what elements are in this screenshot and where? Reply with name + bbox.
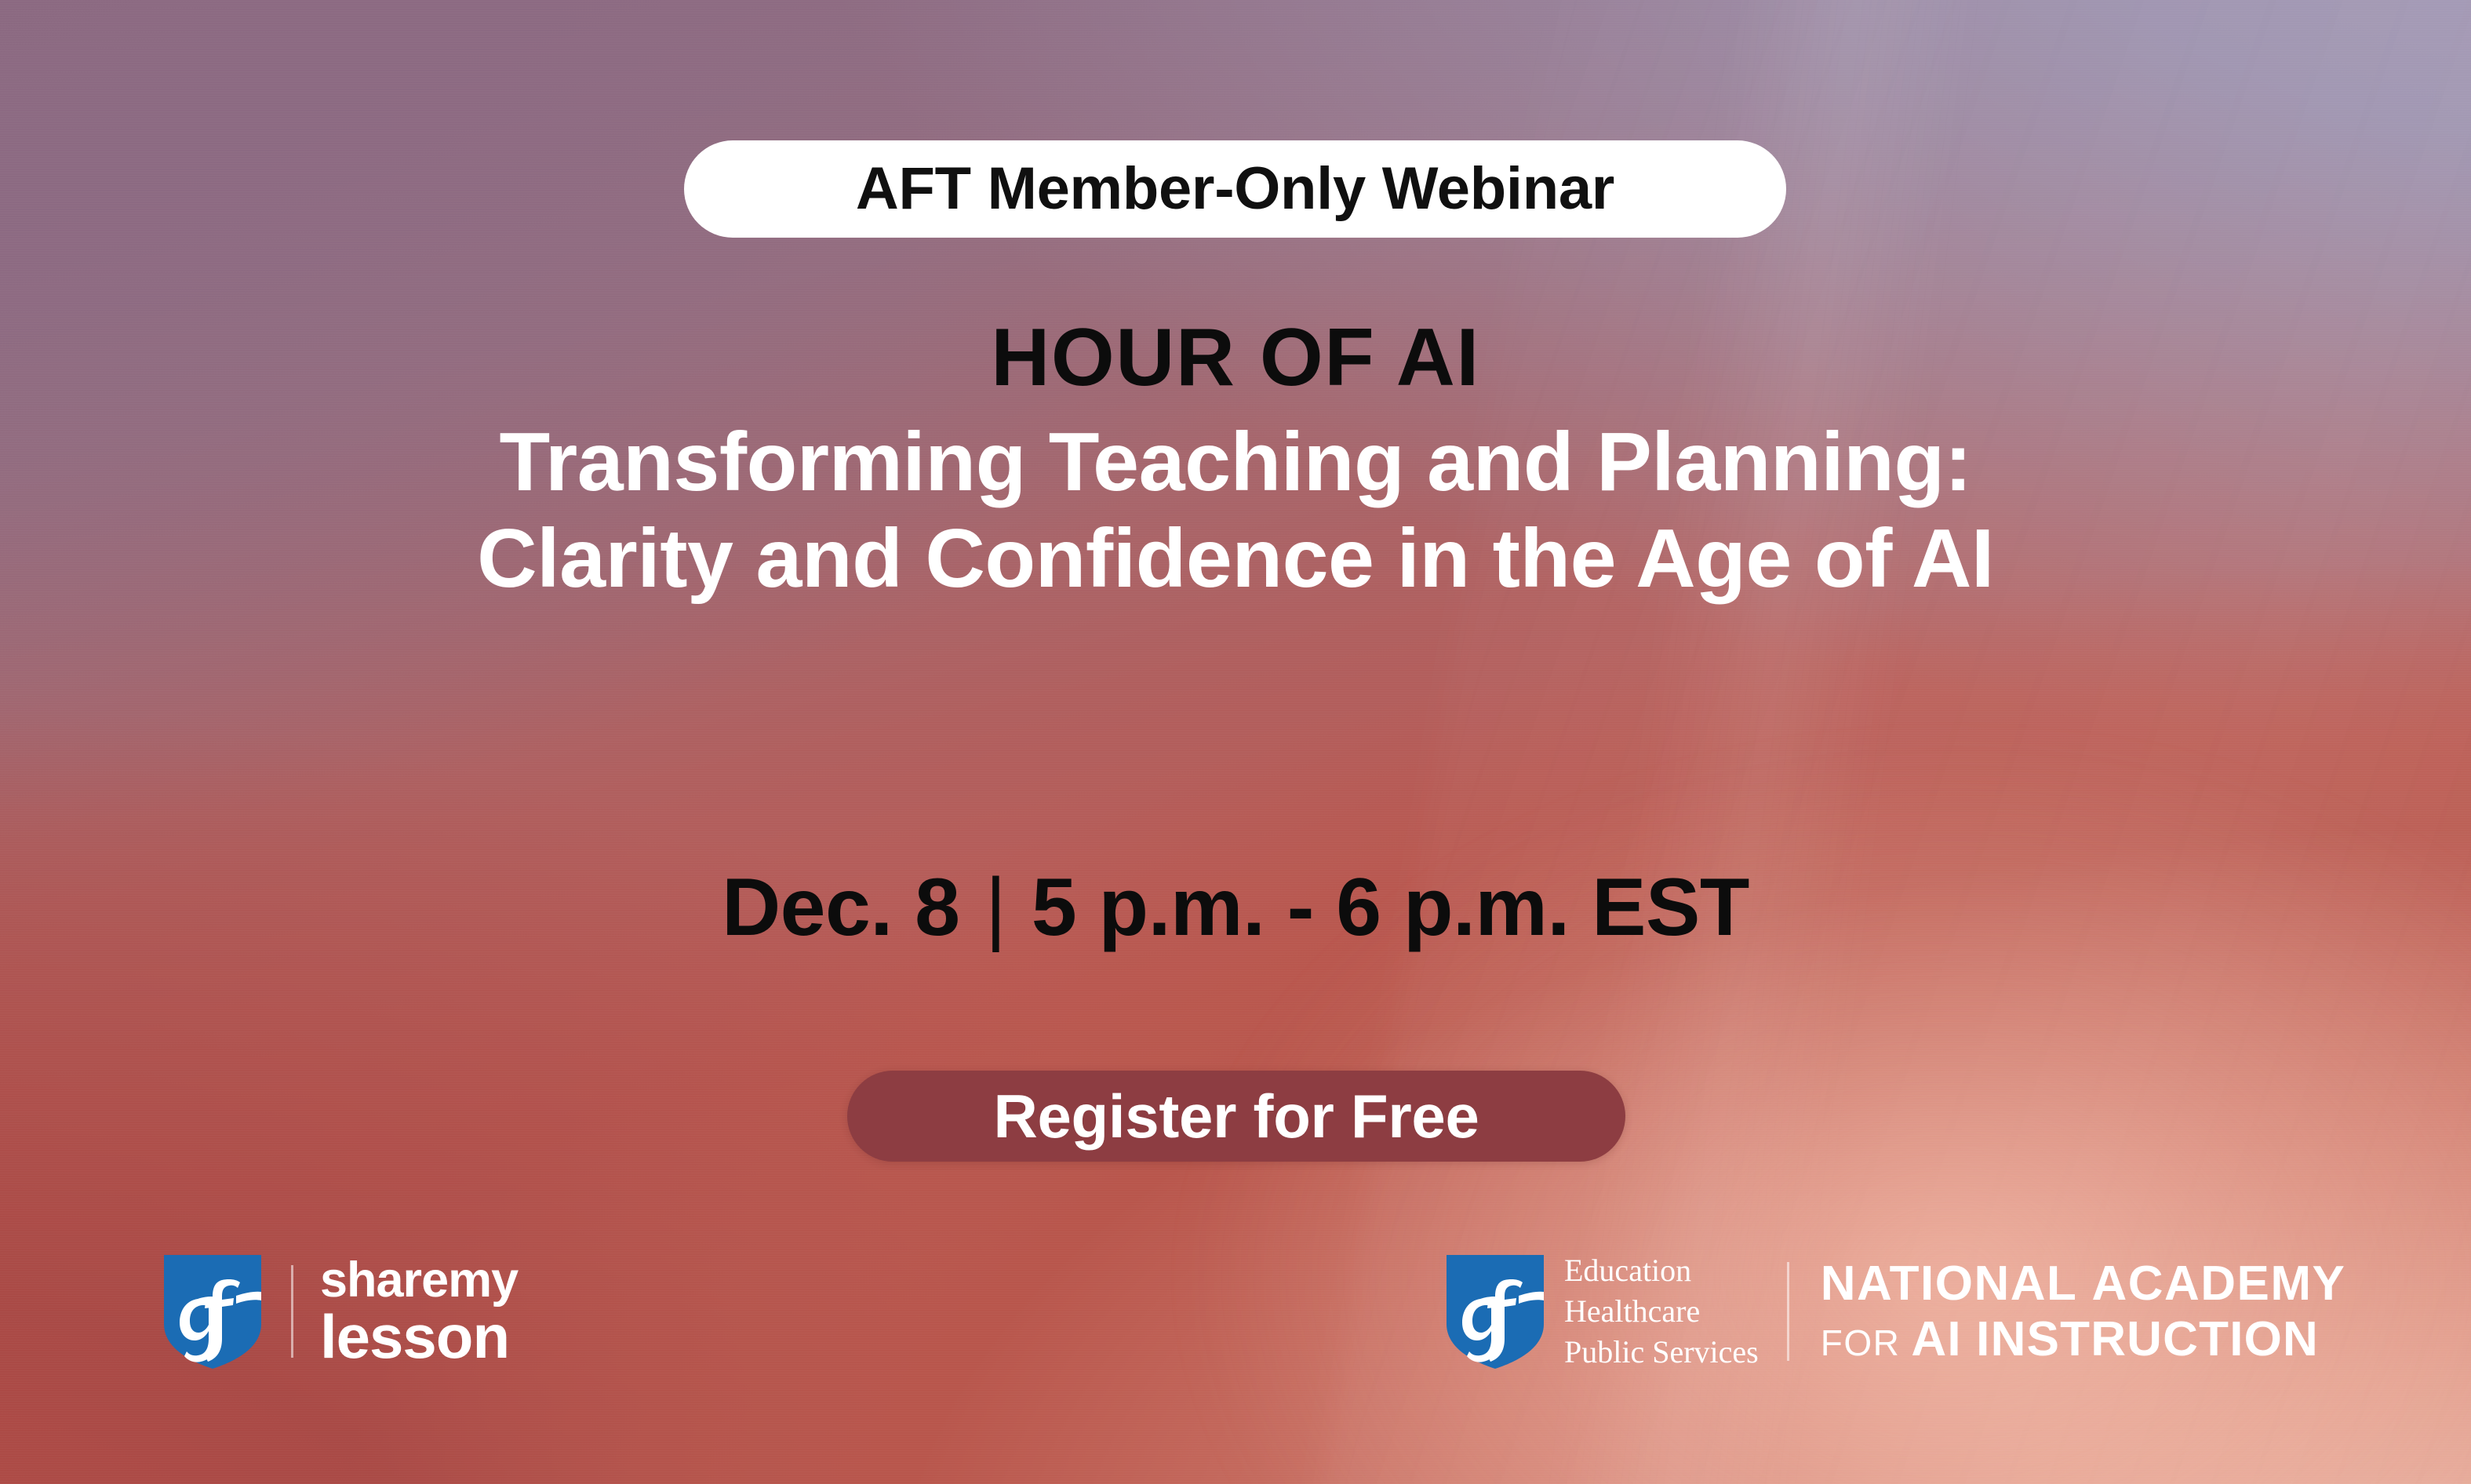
event-datetime-separator: | xyxy=(982,862,1010,953)
national-academy-word-for: FOR xyxy=(1821,1322,1901,1363)
logo-divider-rule xyxy=(1787,1262,1789,1361)
page-title-line-1: Transforming Teaching and Planning: xyxy=(0,414,2471,511)
share-my-lesson-wordmark: sharemy lesson xyxy=(320,1257,518,1366)
national-academy-name-line-1: NATIONALACADEMY xyxy=(1821,1259,2346,1308)
page-title: Transforming Teaching and Planning: Clar… xyxy=(0,414,2471,607)
page-title-kicker: HOUR OF AI xyxy=(0,314,2471,402)
member-only-badge: AFT Member-Only Webinar xyxy=(684,140,1786,238)
event-date: Dec. 8 xyxy=(722,862,959,953)
national-academy-wordmark: NATIONALACADEMY FORAI INSTRUCTION xyxy=(1821,1259,2346,1364)
event-datetime: Dec. 8 | 5 p.m. - 6 p.m. EST xyxy=(0,863,2471,952)
register-for-free-button[interactable]: Register for Free xyxy=(847,1071,1625,1162)
aft-shield-icon xyxy=(161,1252,264,1371)
register-for-free-button-label: Register for Free xyxy=(993,1086,1479,1147)
aft-tagline: Education Healthcare Public Services xyxy=(1564,1250,1759,1373)
logo-divider-rule xyxy=(291,1265,293,1358)
page-title-line-2: Clarity and Confidence in the Age of AI xyxy=(0,511,2471,607)
national-academy-word-ai-instruction: AI INSTRUCTION xyxy=(1911,1312,2319,1366)
member-only-badge-label: AFT Member-Only Webinar xyxy=(856,159,1614,219)
share-my-lesson-logo-lockup[interactable]: sharemy lesson xyxy=(161,1249,518,1374)
national-academy-word-national: NATIONAL xyxy=(1821,1257,2078,1311)
aft-shield-icon xyxy=(1443,1252,1547,1371)
national-academy-word-academy: ACADEMY xyxy=(2091,1257,2345,1311)
webinar-promo-poster: AFT Member-Only Webinar HOUR OF AI Trans… xyxy=(0,0,2471,1484)
poster-content: AFT Member-Only Webinar HOUR OF AI Trans… xyxy=(0,0,2471,1484)
title-block: HOUR OF AI Transforming Teaching and Pla… xyxy=(0,314,2471,607)
national-academy-name-line-2: FORAI INSTRUCTION xyxy=(1821,1315,2346,1364)
aft-tagline-line-3: Public Services xyxy=(1564,1332,1759,1373)
national-academy-logo-lockup[interactable]: Education Healthcare Public Services NAT… xyxy=(1443,1249,2345,1374)
share-my-lesson-word-bottom: lesson xyxy=(320,1307,518,1366)
aft-tagline-line-1: Education xyxy=(1564,1250,1759,1291)
share-my-lesson-word-top: sharemy xyxy=(320,1257,518,1305)
event-time: 5 p.m. - 6 p.m. EST xyxy=(1032,862,1749,953)
aft-tagline-line-2: Healthcare xyxy=(1564,1291,1759,1332)
